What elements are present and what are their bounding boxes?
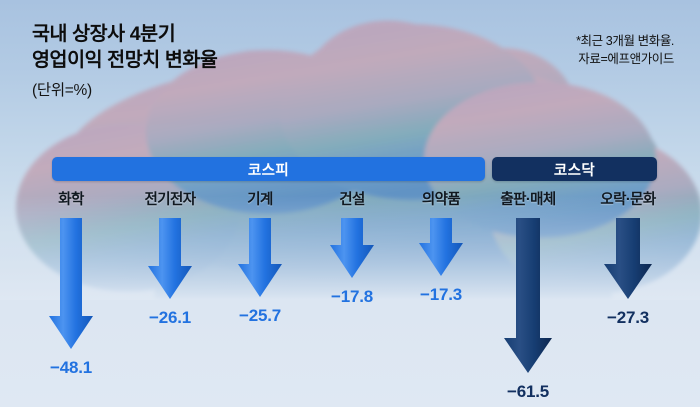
category-label: 출판·매체 — [480, 188, 576, 209]
market-label-kospi: 코스피 — [248, 159, 289, 180]
market-header-kosdaq: 코스닥 — [492, 157, 657, 181]
category-column: 기계−25.7 — [212, 188, 308, 401]
category-column: 건설−17.8 — [304, 188, 400, 401]
market-label-kosdaq: 코스닥 — [554, 159, 595, 180]
category-column: 의약품−17.3 — [393, 188, 489, 401]
arrow-holder: −17.8 — [304, 216, 400, 401]
down-arrow-icon — [45, 216, 97, 355]
down-arrow-icon — [415, 216, 467, 282]
source-line-1: *최근 3개월 변화율. — [576, 32, 674, 50]
category-column: 출판·매체−61.5 — [480, 188, 576, 401]
category-label: 건설 — [304, 188, 400, 209]
category-label: 기계 — [212, 188, 308, 209]
arrow-holder: −25.7 — [212, 216, 308, 401]
arrow-holder: −26.1 — [122, 216, 218, 401]
title-line-1: 국내 상장사 4분기 — [32, 22, 217, 48]
arrow-holder: −48.1 — [23, 216, 119, 401]
value-label: −26.1 — [122, 308, 218, 328]
infographic-root: 국내 상장사 4분기 영업이익 전망치 변화율 (단위=%) *최근 3개월 변… — [0, 0, 700, 407]
down-arrow-icon — [600, 216, 656, 305]
page-title: 국내 상장사 4분기 영업이익 전망치 변화율 (단위=%) — [32, 22, 217, 100]
down-arrow-icon — [144, 216, 196, 305]
value-label: −17.8 — [304, 287, 400, 307]
down-arrow-icon — [500, 216, 556, 379]
down-arrow-icon — [234, 216, 286, 303]
value-label: −61.5 — [480, 382, 576, 402]
value-label: −25.7 — [212, 306, 308, 326]
arrow-holder: −61.5 — [480, 216, 576, 401]
unit-note: (단위=%) — [32, 78, 217, 100]
source-line-2: 자료=에프앤가이드 — [576, 50, 674, 68]
title-line-2: 영업이익 전망치 변화율 — [32, 48, 217, 74]
category-column: 전기전자−26.1 — [122, 188, 218, 401]
category-label: 전기전자 — [122, 188, 218, 209]
arrow-holder: −17.3 — [393, 216, 489, 401]
category-column: 화학−48.1 — [23, 188, 119, 401]
value-label: −48.1 — [23, 358, 119, 378]
arrow-holder: −27.3 — [580, 216, 676, 401]
category-column: 오락·문화−27.3 — [580, 188, 676, 401]
category-label: 오락·문화 — [580, 188, 676, 209]
value-label: −27.3 — [580, 308, 676, 328]
category-label: 화학 — [23, 188, 119, 209]
market-header-kospi: 코스피 — [52, 157, 485, 181]
down-arrow-icon — [326, 216, 378, 284]
source-note: *최근 3개월 변화율. 자료=에프앤가이드 — [576, 32, 674, 68]
category-label: 의약품 — [393, 188, 489, 209]
value-label: −17.3 — [393, 285, 489, 305]
